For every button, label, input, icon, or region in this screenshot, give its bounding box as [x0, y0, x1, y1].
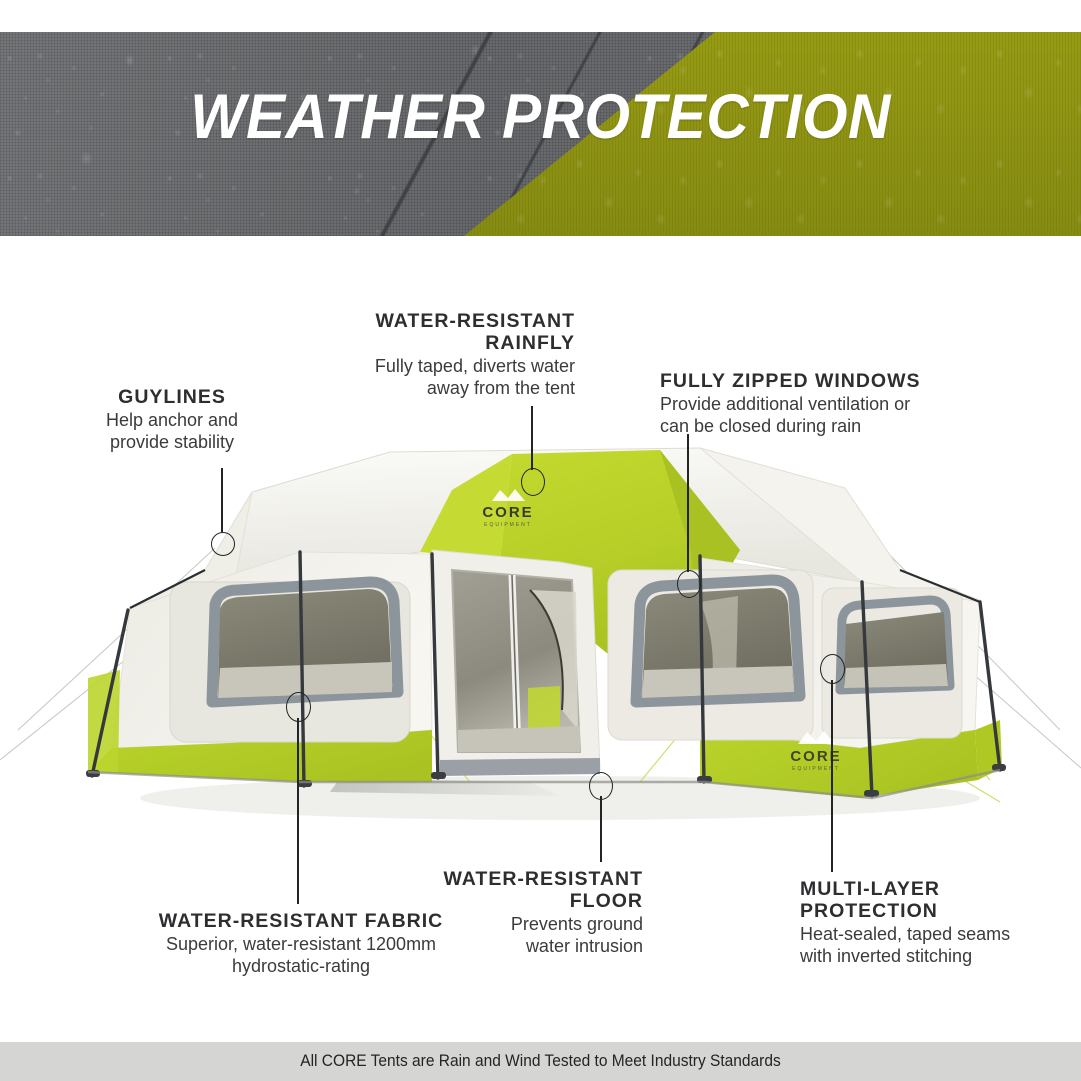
- svg-text:EQUIPMENT: EQUIPMENT: [792, 766, 840, 772]
- callout-windows-title: FULLY ZIPPED WINDOWS: [660, 370, 990, 392]
- callout-multilayer-title-line1: MULTI-LAYER: [800, 878, 1060, 900]
- callout-guylines: GUYLINES Help anchor and provide stabili…: [72, 386, 272, 454]
- callout-guylines-desc-line2: provide stability: [72, 432, 272, 454]
- callout-multilayer: MULTI-LAYER PROTECTION Heat-sealed, tape…: [800, 878, 1060, 968]
- callout-floor: WATER-RESISTANT FLOOR Prevents ground wa…: [390, 868, 643, 958]
- callout-guylines-desc-line1: Help anchor and: [72, 410, 272, 432]
- leader-line-rainfly: [531, 406, 533, 470]
- leader-line-windows: [687, 434, 689, 572]
- callout-rainfly-desc-line2: away from the tent: [300, 378, 575, 400]
- callout-guylines-title: GUYLINES: [72, 386, 272, 408]
- callout-multilayer-title-line2: PROTECTION: [800, 900, 1060, 922]
- center-right-window: [608, 570, 813, 740]
- callout-floor-title-line2: FLOOR: [390, 890, 643, 912]
- svg-text:CORE: CORE: [790, 748, 841, 765]
- callout-rainfly-desc-line1: Fully taped, diverts water: [300, 356, 575, 378]
- callout-ring-rainfly: [521, 468, 545, 496]
- callout-floor-title-line1: WATER-RESISTANT: [390, 868, 643, 890]
- leader-line-guylines: [221, 468, 223, 532]
- footer-text: All CORE Tents are Rain and Wind Tested …: [32, 1052, 1048, 1071]
- leader-line-multilayer: [831, 680, 833, 872]
- callout-multilayer-desc-line2: with inverted stitching: [800, 946, 1060, 968]
- infographic-page: WEATHER PROTECTION: [0, 0, 1081, 1081]
- leader-line-fabric: [297, 718, 299, 904]
- callout-floor-desc-line2: water intrusion: [390, 936, 643, 958]
- callout-rainfly-title-line1: WATER-RESISTANT: [300, 310, 575, 332]
- callout-multilayer-desc-line1: Heat-sealed, taped seams: [800, 924, 1060, 946]
- callout-rainfly: WATER-RESISTANT RAINFLY Fully taped, div…: [300, 310, 575, 400]
- callout-windows-desc-line1: Provide additional ventilation or: [660, 394, 990, 416]
- callout-fabric-desc-line2: hydrostatic-rating: [66, 956, 536, 978]
- tent-illustration: CORE EQUIPMENT: [0, 430, 1081, 850]
- page-title: WEATHER PROTECTION: [38, 86, 1043, 149]
- callout-rainfly-title-line2: RAINFLY: [300, 332, 575, 354]
- svg-text:CORE: CORE: [482, 504, 533, 521]
- leader-line-floor: [600, 796, 602, 862]
- screen-door: [432, 550, 600, 776]
- svg-text:EQUIPMENT: EQUIPMENT: [484, 522, 532, 528]
- callout-windows-desc-line2: can be closed during rain: [660, 416, 990, 438]
- callout-floor-desc-line1: Prevents ground: [390, 914, 643, 936]
- callout-ring-guylines: [211, 532, 235, 556]
- callout-windows: FULLY ZIPPED WINDOWS Provide additional …: [660, 370, 990, 438]
- callout-ring-windows: [677, 570, 701, 598]
